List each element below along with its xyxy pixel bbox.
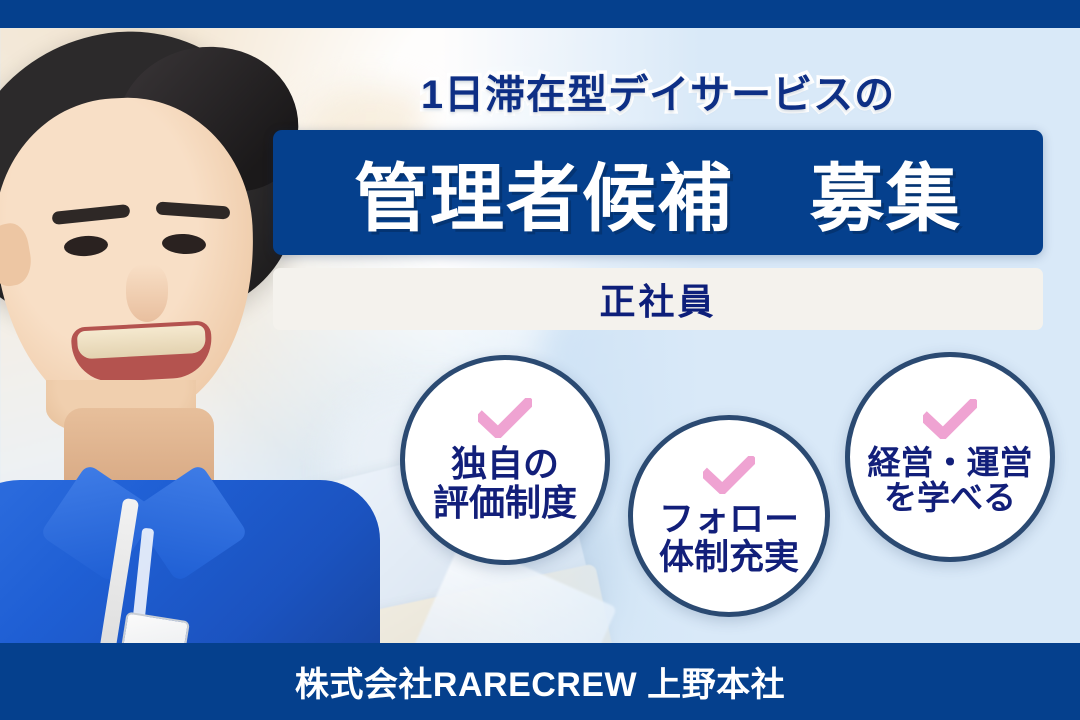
- badge-label: 経営・運営 を学べる: [868, 446, 1033, 516]
- check-icon: [703, 456, 755, 499]
- feature-badge-follow-up: フォロー 体制充実: [628, 415, 830, 617]
- teeth: [77, 325, 206, 360]
- nose: [126, 264, 168, 322]
- badge-label: 独自の 評価制度: [433, 445, 577, 521]
- badge-label: フォロー 体制充実: [659, 501, 799, 575]
- top-bar: [0, 0, 1080, 28]
- badge-line-1: 経営・運営: [868, 446, 1033, 481]
- badge-line-2: を学べる: [884, 481, 1016, 516]
- feature-badge-evaluation: 独自の 評価制度: [400, 355, 610, 565]
- feature-badge-management: 経営・運営 を学べる: [845, 352, 1055, 562]
- title-band: 管理者候補 募集: [273, 130, 1043, 255]
- badge-line-1: 独自の: [451, 445, 559, 483]
- title-text: 管理者候補 募集: [354, 139, 962, 246]
- check-icon: [923, 399, 977, 444]
- subtitle-band: 正社員: [273, 268, 1043, 330]
- footer-company-name: 株式会社RARECREW 上野本社: [295, 657, 785, 706]
- badge-line-1: フォロー: [659, 501, 799, 538]
- badge-line-2: 体制充実: [659, 539, 799, 576]
- footer-bar: 株式会社RARECREW 上野本社: [0, 643, 1080, 720]
- headline-text: 1日滞在型デイサービスの: [421, 62, 895, 120]
- badge-line-2: 評価制度: [433, 484, 577, 522]
- headline: 1日滞在型デイサービスの: [273, 60, 1043, 122]
- check-icon: [478, 398, 532, 443]
- subtitle-text: 正社員: [599, 273, 716, 325]
- recruitment-poster: 1日滞在型デイサービスの 管理者候補 募集 正社員 独自の 評価制度 フォロー …: [0, 0, 1080, 720]
